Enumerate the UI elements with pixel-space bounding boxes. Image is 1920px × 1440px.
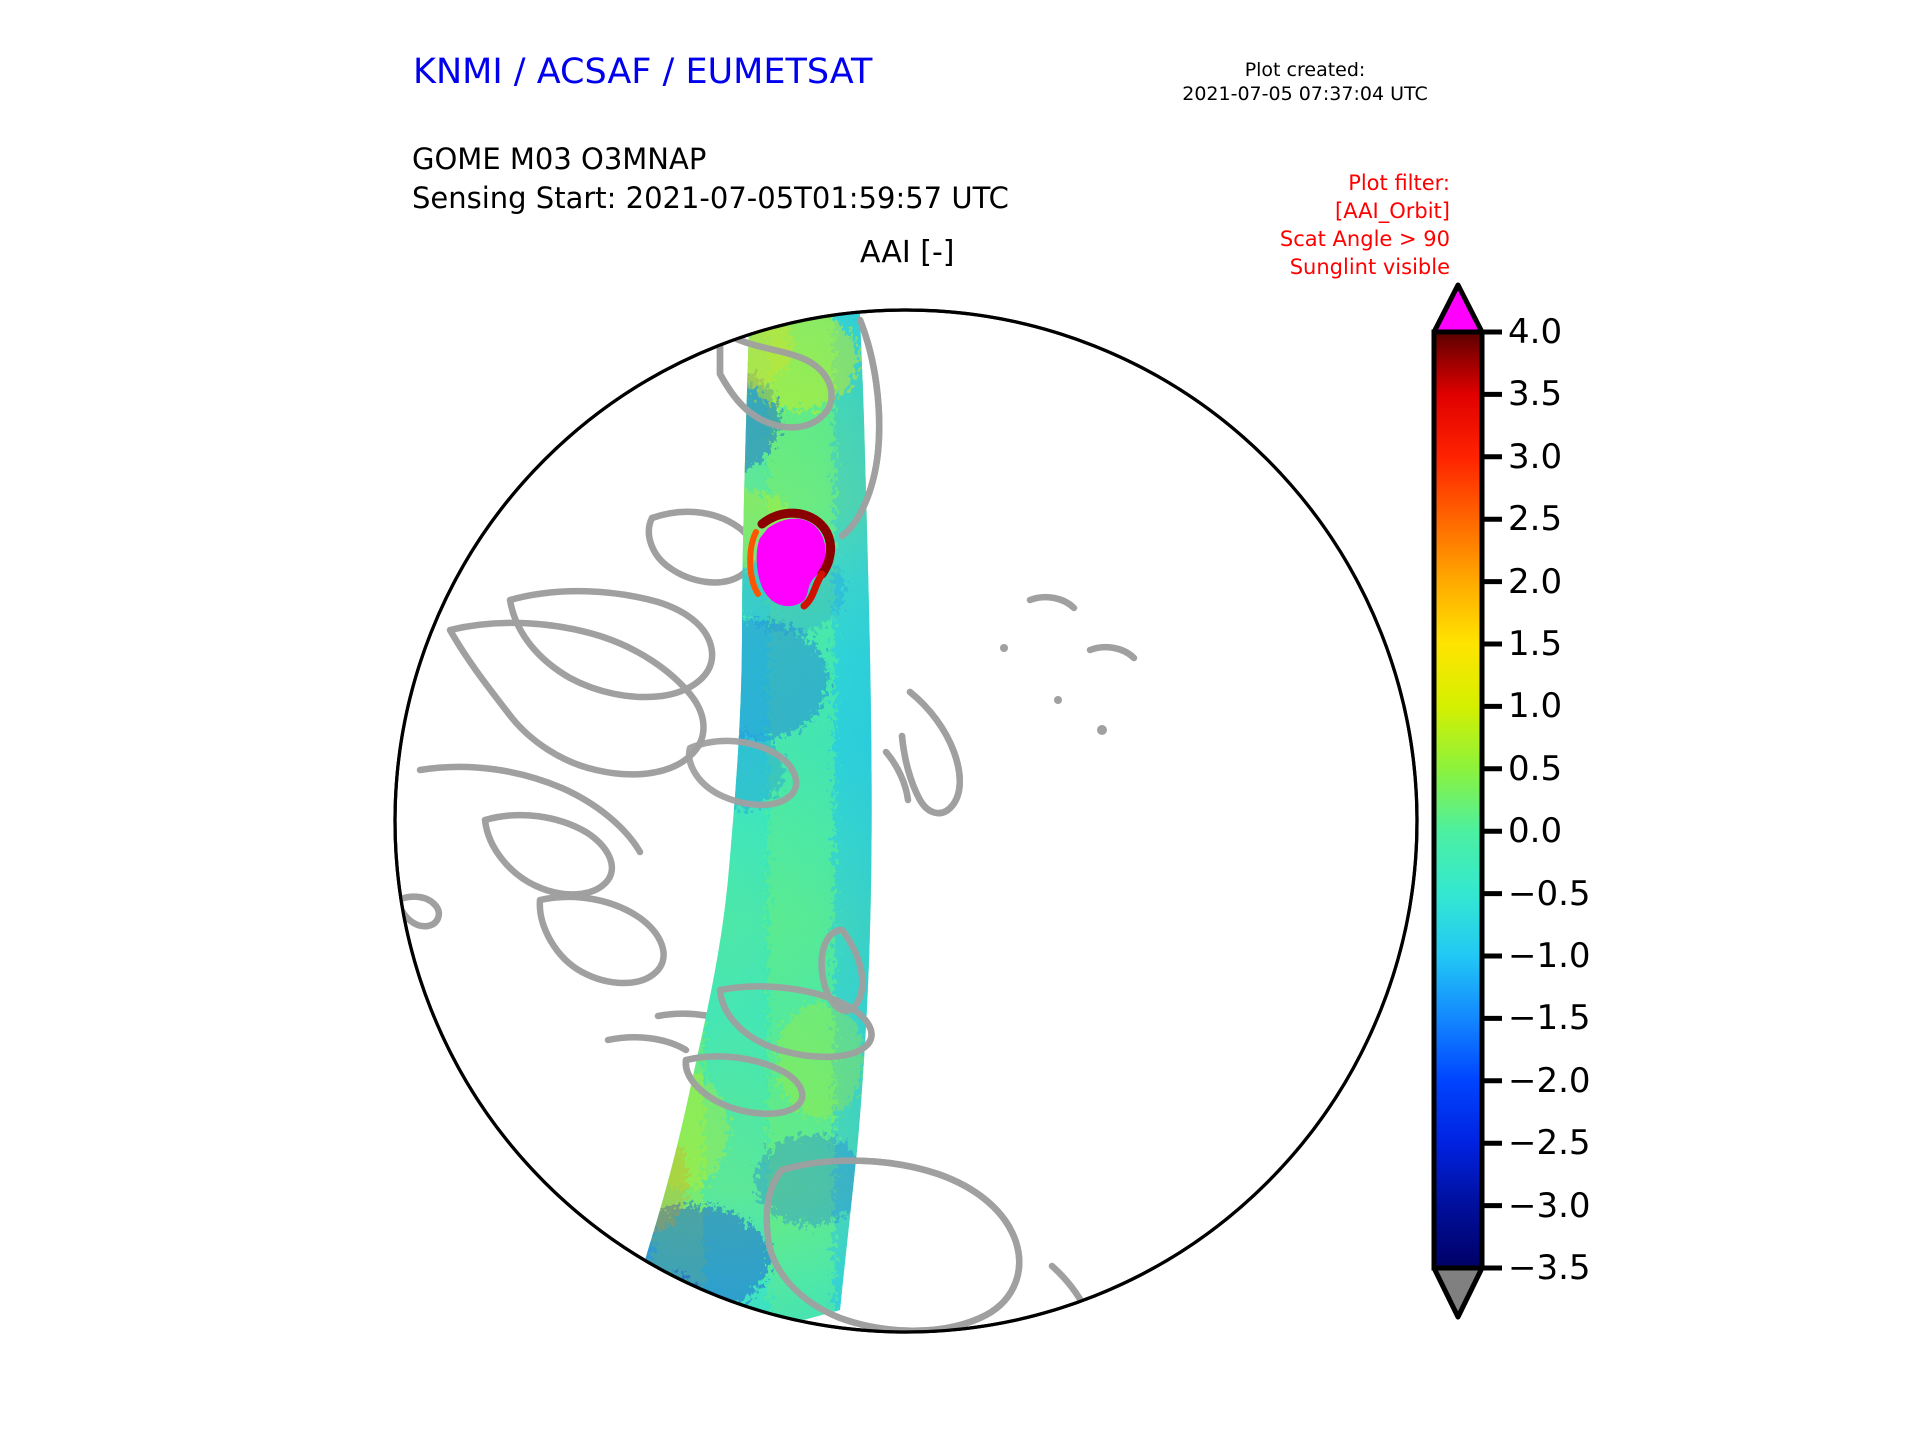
plot-filter-scat-angle: Scat Angle > 90: [1140, 226, 1450, 254]
plot-created-block: Plot created: 2021-07-05 07:37:04 UTC: [1160, 58, 1450, 107]
globe-map: [390, 300, 1425, 1370]
colorbar-tick-label: 1.0: [1508, 689, 1562, 723]
colorbar: 4.0 3.5 3.0 2.5 2.0 1.5 1.0 0.5 0.0 −0.5…: [1430, 275, 1670, 1345]
colorbar-tick-label: −2.5: [1508, 1126, 1591, 1160]
agency-title: KNMI / ACSAF / EUMETSAT: [413, 52, 872, 92]
colorbar-under-arrow: [1434, 1268, 1482, 1317]
colorbar-tick-label: 4.0: [1508, 315, 1562, 349]
colorbar-over-arrow: [1434, 285, 1482, 332]
colorbar-tick-label: −2.0: [1508, 1064, 1591, 1098]
colorbar-tick-label: 0.5: [1508, 752, 1562, 786]
plot-filter-sunglint: Sunglint visible: [1140, 254, 1450, 282]
instrument-line: GOME M03 O3MNAP: [412, 140, 1009, 179]
colorbar-tick-label: 2.0: [1508, 565, 1562, 599]
colorbar-tick-label: 3.0: [1508, 440, 1562, 474]
colorbar-tick-label: 2.5: [1508, 502, 1562, 536]
plot-filter-product: [AAI_Orbit]: [1140, 198, 1450, 226]
colorbar-tick-label: −0.5: [1508, 877, 1591, 911]
colorbar-tick-label: 1.5: [1508, 627, 1562, 661]
quantity-label: AAI [-]: [860, 235, 955, 270]
subtitle-block: GOME M03 O3MNAP Sensing Start: 2021-07-0…: [412, 140, 1009, 217]
sensing-start-line: Sensing Start: 2021-07-05T01:59:57 UTC: [412, 179, 1009, 218]
colorbar-ticks: [1482, 332, 1502, 1268]
colorbar-tick-label: −1.5: [1508, 1001, 1591, 1035]
plot-filter-block: Plot filter: [AAI_Orbit] Scat Angle > 90…: [1140, 170, 1450, 282]
colorbar-tick-label: −3.0: [1508, 1189, 1591, 1223]
figure-canvas: KNMI / ACSAF / EUMETSAT Plot created: 20…: [0, 0, 1920, 1440]
globe-svg: [390, 300, 1425, 1370]
colorbar-tick-label: −1.0: [1508, 939, 1591, 973]
plot-created-value: 2021-07-05 07:37:04 UTC: [1160, 82, 1450, 106]
colorbar-svg: [1430, 275, 1670, 1345]
colorbar-tick-label: −3.5: [1508, 1251, 1591, 1285]
colorbar-gradient: [1434, 332, 1482, 1268]
plot-filter-title: Plot filter:: [1140, 170, 1450, 198]
plot-created-label: Plot created:: [1160, 58, 1450, 82]
colorbar-tick-label: 0.0: [1508, 814, 1562, 848]
colorbar-tick-label: 3.5: [1508, 377, 1562, 411]
